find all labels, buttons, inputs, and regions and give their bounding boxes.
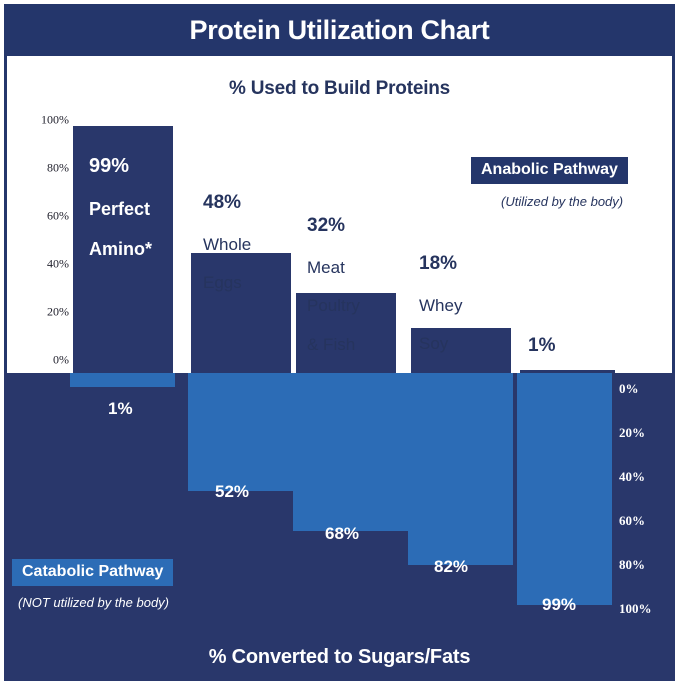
catabolic-panel: 0% 20% 40% 60% 80% 100% 1% 52% 68% 82% 9… xyxy=(4,373,675,681)
bar-name-line: Meat xyxy=(307,258,360,278)
bar-value-top: 32% xyxy=(307,215,360,237)
right-axis-tick: 40% xyxy=(619,469,667,485)
bar-value-top: 99% xyxy=(89,155,152,178)
right-axis-tick: 60% xyxy=(619,513,667,529)
bar-value-top: 1% xyxy=(528,335,586,357)
left-axis-tick: 100% xyxy=(23,113,69,128)
bar-value-bottom-whole-eggs: 52% xyxy=(215,482,249,502)
catabolic-pathway-subtext: (NOT utilized by the body) xyxy=(18,595,169,610)
anabolic-pathway-subtext: (Utilized by the body) xyxy=(501,194,623,209)
right-axis-tick: 100% xyxy=(619,601,667,617)
chart-header: Protein Utilization Chart xyxy=(4,4,675,56)
right-axis-tick: 80% xyxy=(619,557,667,573)
bar-name-line: Whole xyxy=(203,235,251,255)
anabolic-panel: % Used to Build Proteins 100% 80% 60% 40… xyxy=(4,56,675,373)
bar-bottom-meat-poultry-fish xyxy=(293,373,408,531)
bar-label-whole-eggs: 48% Whole Eggs xyxy=(203,173,251,312)
bar-name-line: Poultry xyxy=(307,296,360,316)
bar-value-bottom-bcaas: 99% xyxy=(542,595,576,615)
right-axis-tick: 20% xyxy=(619,425,667,441)
bar-name-line: Whey xyxy=(419,296,470,316)
bar-bottom-perfect-amino xyxy=(70,373,175,387)
left-axis: 100% 80% 60% 40% 20% 0% xyxy=(23,56,69,373)
left-axis-tick: 20% xyxy=(23,305,69,320)
bar-label-perfect-amino: 99% Perfect Amino* xyxy=(89,136,152,278)
bar-bottom-whole-eggs xyxy=(188,373,293,491)
left-axis-tick: 0% xyxy=(23,353,69,368)
bar-name-line: Soy xyxy=(419,334,470,354)
lower-title: % Converted to Sugars/Fats xyxy=(4,646,675,669)
bar-value-bottom-meat-poultry-fish: 68% xyxy=(325,524,359,544)
bar-value-bottom-perfect-amino: 1% xyxy=(108,399,133,419)
bar-label-meat-poultry-fish: 32% Meat Poultry & Fish xyxy=(307,196,360,373)
catabolic-pathway-badge: Catabolic Pathway xyxy=(12,559,173,586)
bar-value-top: 48% xyxy=(203,192,251,214)
anabolic-pathway-badge: Anabolic Pathway xyxy=(471,157,628,184)
page-title: Protein Utilization Chart xyxy=(189,15,489,46)
protein-utilization-chart: Protein Utilization Chart % Used to Buil… xyxy=(0,0,679,685)
bar-name-line: Eggs xyxy=(203,273,251,293)
right-axis: 0% 20% 40% 60% 80% 100% xyxy=(619,373,667,681)
bar-name-line: Amino* xyxy=(89,239,152,260)
left-axis-tick: 40% xyxy=(23,257,69,272)
left-axis-tick: 80% xyxy=(23,161,69,176)
right-axis-tick: 0% xyxy=(619,381,667,397)
bar-bottom-whey-soy-nuts xyxy=(408,373,513,565)
bar-value-top: 18% xyxy=(419,253,470,275)
left-axis-tick: 60% xyxy=(23,209,69,224)
upper-subtitle: % Used to Build Proteins xyxy=(7,78,672,100)
bar-name-line: Perfect xyxy=(89,199,152,220)
bar-bottom-bcaas xyxy=(517,373,612,605)
bar-name-line: & Fish xyxy=(307,335,360,355)
bar-value-bottom-whey-soy-nuts: 82% xyxy=(434,557,468,577)
